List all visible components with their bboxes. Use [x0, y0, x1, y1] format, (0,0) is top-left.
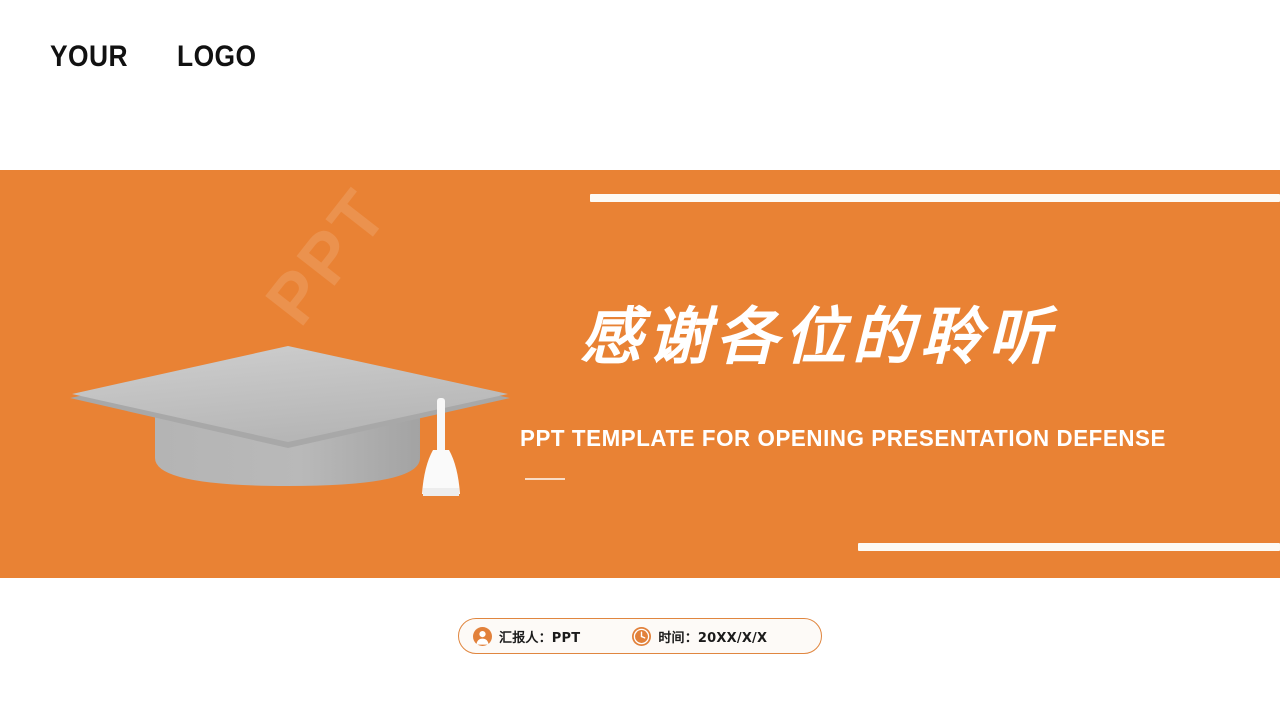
slide-canvas: YOUR LOGO PPT	[0, 0, 1280, 720]
footer-info-badge: 汇报人：PPT 时间：20XX/X/X	[458, 618, 822, 654]
subtitle-underline	[525, 478, 565, 480]
reporter-group: 汇报人：PPT	[473, 627, 580, 646]
orange-banner: PPT	[0, 170, 1280, 578]
time-label: 时间：20XX/X/X	[658, 627, 767, 646]
user-icon	[473, 627, 492, 646]
clock-icon	[632, 627, 651, 646]
time-group: 时间：20XX/X/X	[632, 627, 767, 646]
decorative-bar-bottom	[858, 543, 1280, 551]
logo-word-your: YOUR	[50, 40, 128, 74]
decorative-bar-top	[590, 194, 1280, 202]
graduation-cap-icon	[60, 290, 530, 510]
reporter-label: 汇报人：PPT	[499, 627, 580, 646]
page-subtitle: PPT TEMPLATE FOR OPENING PRESENTATION DE…	[520, 425, 1166, 452]
page-title: 感谢各位的聆听	[580, 298, 1100, 376]
logo: YOUR LOGO	[50, 40, 267, 74]
logo-word-logo: LOGO	[177, 40, 257, 74]
